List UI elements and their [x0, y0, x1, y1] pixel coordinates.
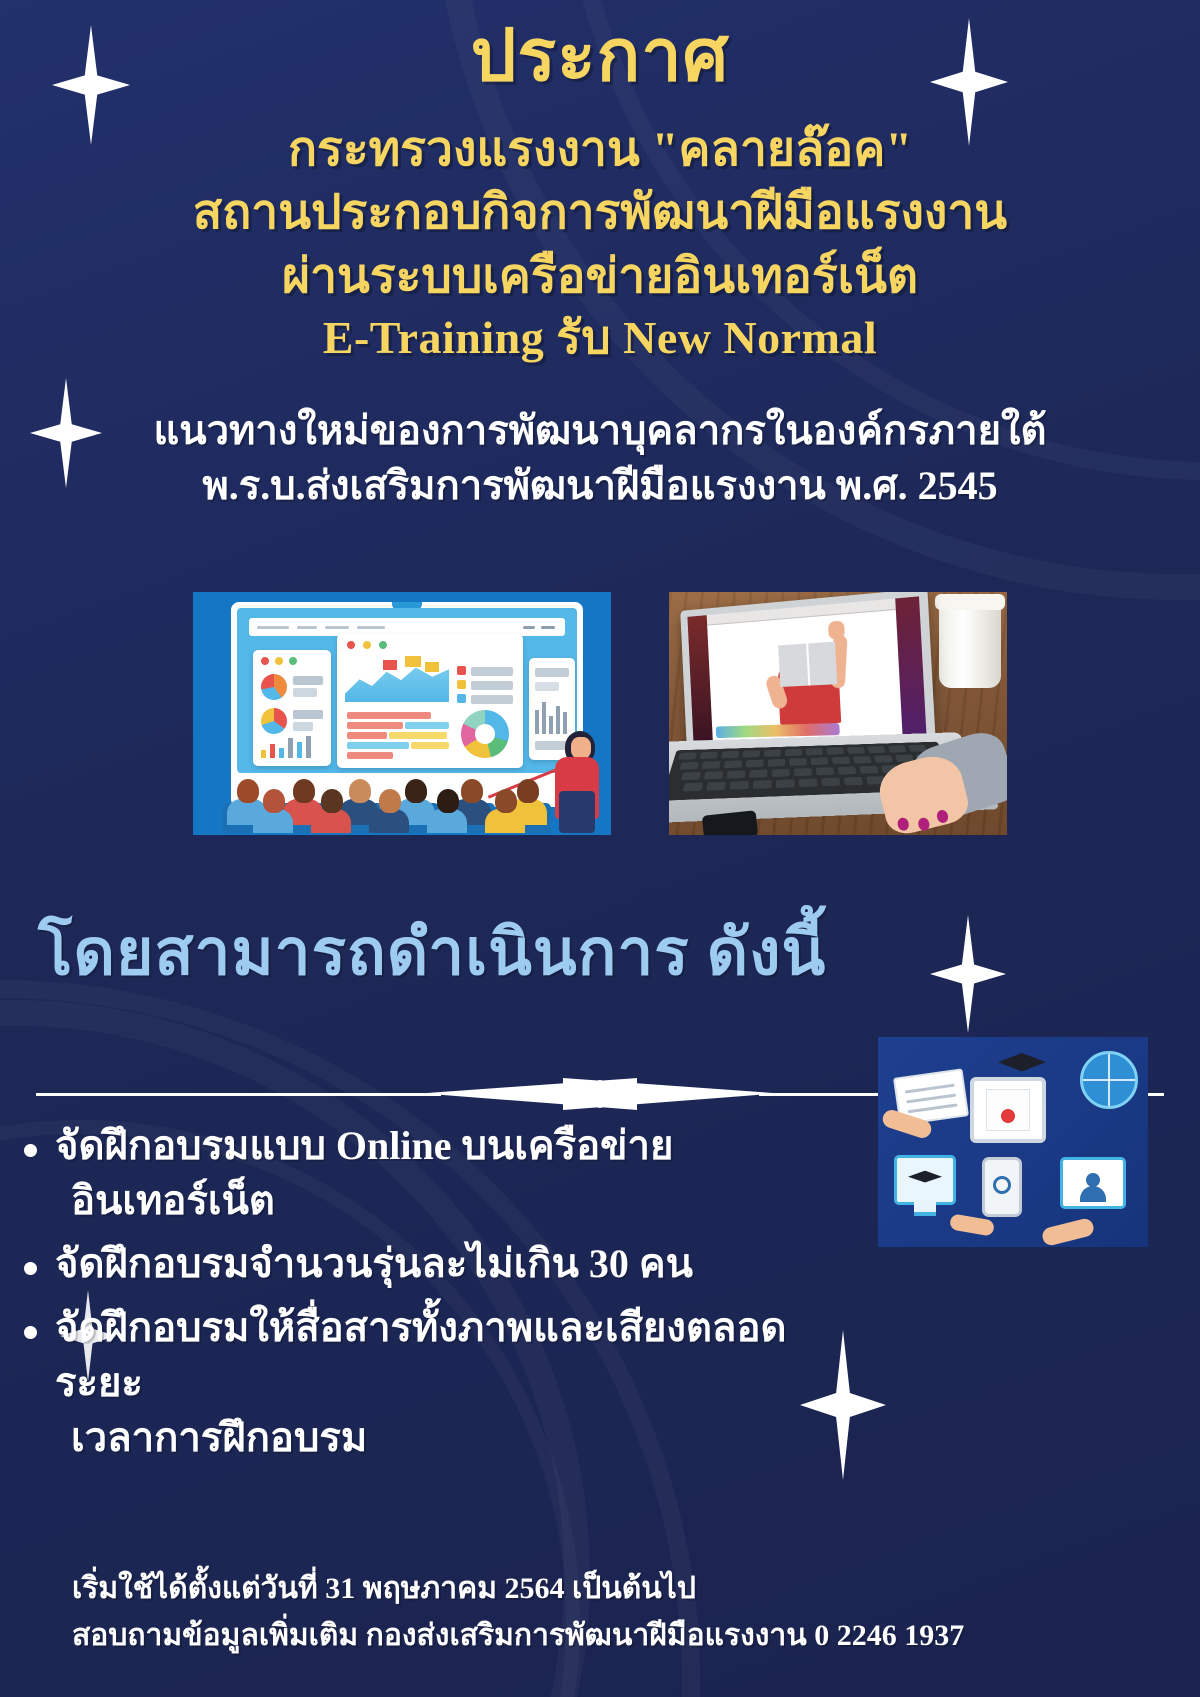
chart-card-small: [253, 650, 331, 766]
mobile-search-icon: [982, 1157, 1022, 1217]
list-item: จัดฝึกอบรมแบบ Online บนเครือข่าย อินเทอร…: [24, 1118, 824, 1228]
bullet-dot-icon: [24, 1262, 37, 1275]
bullet-line-2: เวลาการฝึกอบรม: [55, 1410, 824, 1465]
section-heading: โดยสามารถดำเนินการ ดังนี้: [0, 918, 1200, 988]
coffee-cup: [939, 602, 1001, 688]
online-learning-laptop-photo: [669, 592, 1007, 835]
bullet-line-2: อินเทอร์เน็ต: [55, 1173, 673, 1228]
bullet-text: จัดฝึกอบรมแบบ Online บนเครือข่าย อินเทอร…: [55, 1118, 673, 1228]
section-heading-text: โดยสามารถดำเนินการ ดังนี้: [38, 918, 1200, 988]
screen-inner: [237, 608, 577, 773]
hand-icon: [1041, 1217, 1096, 1247]
bullet-text: จัดฝึกอบรมจำนวนรุ่นละไม่เกิน 30 คน: [55, 1236, 693, 1291]
title-line-1: กระทรวงแรงงาน "คลายล๊อค": [60, 118, 1140, 181]
title-line-2: สถานประกอบกิจการพัฒนาฝีมือแรงงาน: [60, 181, 1140, 244]
bullet-dot-icon: [24, 1326, 37, 1339]
audience-group: [195, 761, 609, 833]
list-item: จัดฝึกอบรมจำนวนรุ่นละไม่เกิน 30 คน: [24, 1236, 824, 1291]
bullet-line-1: จัดฝึกอบรมจำนวนรุ่นละไม่เกิน 30 คน: [55, 1241, 693, 1286]
graduation-cap-icon: [998, 1053, 1046, 1073]
announcement-kicker: ประกาศ: [0, 0, 1200, 92]
open-book: [778, 642, 837, 687]
chart-card-main: [337, 634, 523, 768]
poster-canvas: ประกาศ กระทรวงแรงงาน "คลายล๊อค" สถานประก…: [0, 0, 1200, 1697]
image-row: [0, 592, 1200, 835]
poster-footer: เริ่มใช้ได้ตั้งแต่วันที่ 31 พฤษภาคม 2564…: [72, 1566, 1170, 1659]
certificate-tablet-icon: [970, 1077, 1046, 1143]
video-lesson-screen: [687, 596, 926, 740]
subtitle-line-1: แนวทางใหม่ของการพัฒนาบุคลากรในองค์กรภายใ…: [70, 403, 1130, 458]
poster-title: กระทรวงแรงงาน "คลายล๊อค" สถานประกอบกิจกา…: [0, 118, 1200, 369]
footer-line-2: สอบถามข้อมูลเพิ่มเติม กองส่งเสริมการพัฒน…: [72, 1613, 1170, 1660]
e-learning-icons-panel: [878, 1037, 1148, 1247]
bullet-line-1: จัดฝึกอบรมแบบ Online บนเครือข่าย: [55, 1123, 673, 1168]
smartphone: [702, 810, 758, 835]
bullet-list: จัดฝึกอบรมแบบ Online บนเครือข่าย อินเทอร…: [24, 1118, 824, 1473]
globe-icon: [1080, 1051, 1138, 1109]
title-line-3: ผ่านระบบเครือข่ายอินเทอร์เน็ต: [60, 245, 1140, 308]
bullet-line-1: จัดฝึกอบรมให้สื่อสารทั้งภาพและเสียงตลอดร…: [55, 1305, 786, 1405]
footer-line-1: เริ่มใช้ได้ตั้งแต่วันที่ 31 พฤษภาคม 2564…: [72, 1566, 1170, 1613]
title-line-4: E-Training รับ New Normal: [60, 308, 1140, 369]
poster-header: ประกาศ กระทรวงแรงงาน "คลายล๊อค" สถานประก…: [0, 0, 1200, 513]
video-conference-icon: [1060, 1157, 1126, 1209]
poster-subtitle: แนวทางใหม่ของการพัฒนาบุคลากรในองค์กรภายใ…: [0, 403, 1200, 513]
laptop-screen-lid: [680, 592, 936, 754]
monitor-graduation-icon: [894, 1155, 956, 1205]
subtitle-line-2: พ.ร.บ.ส่งเสริมการพัฒนาฝีมือแรงงาน พ.ศ. 2…: [70, 458, 1130, 513]
presenter-face: [571, 737, 591, 759]
bullet-dot-icon: [24, 1144, 37, 1157]
training-presentation-illustration: [193, 592, 611, 835]
list-item: จัดฝึกอบรมให้สื่อสารทั้งภาพและเสียงตลอดร…: [24, 1300, 824, 1466]
bullet-text: จัดฝึกอบรมให้สื่อสารทั้งภาพและเสียงตลอดร…: [55, 1300, 824, 1466]
